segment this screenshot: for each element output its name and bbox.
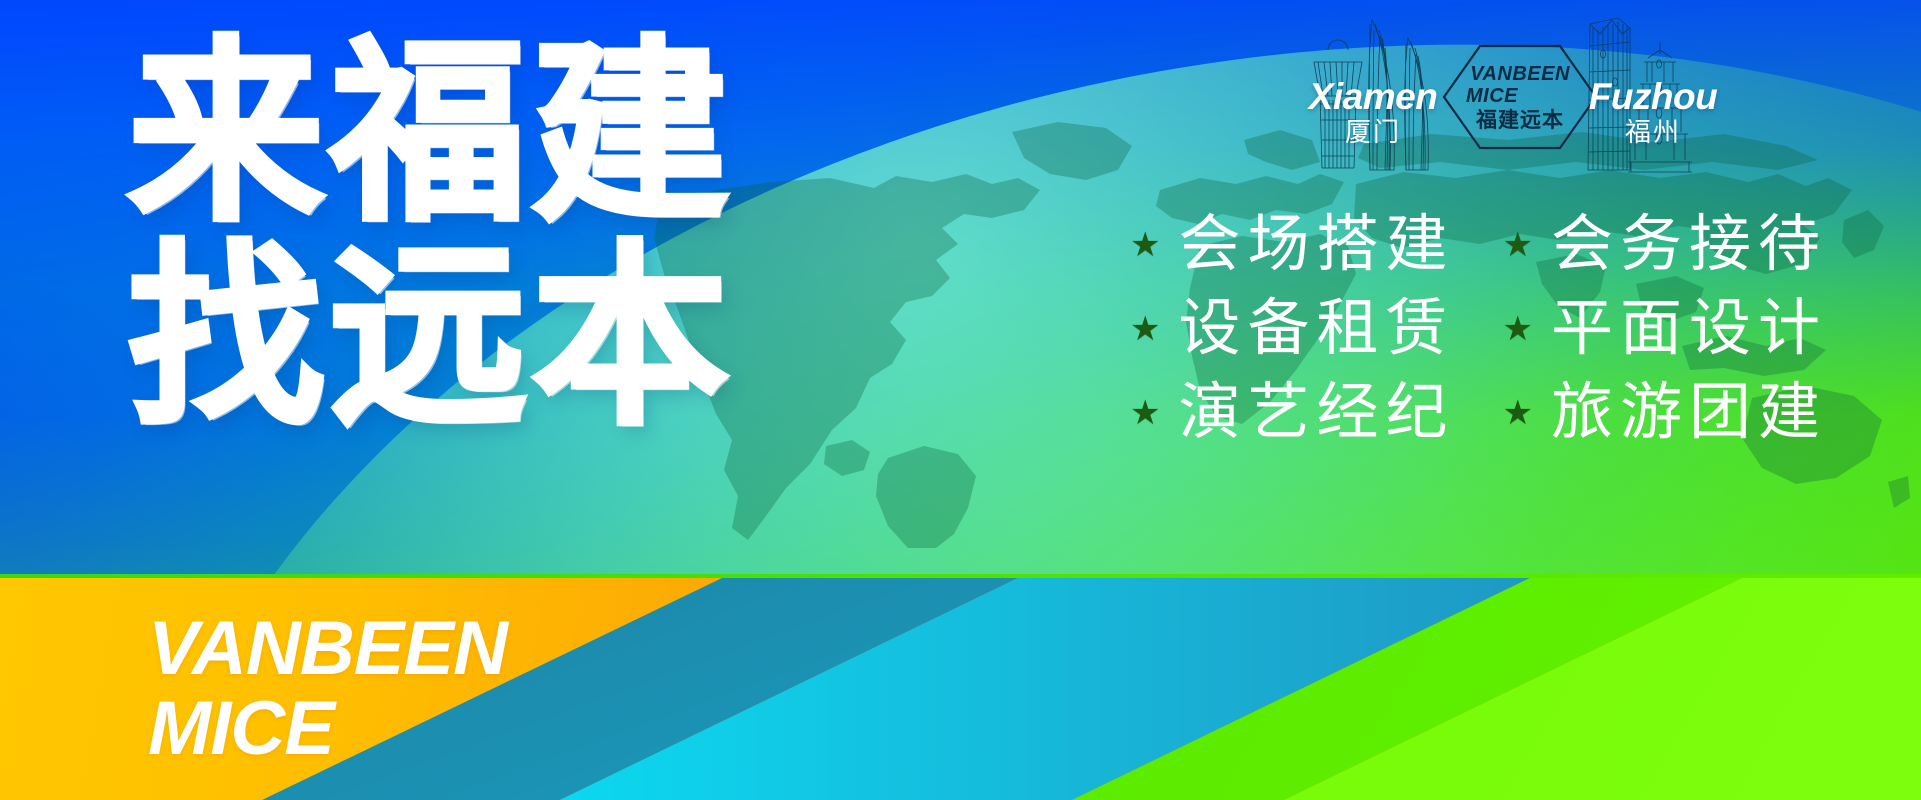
service-label: 会务接待: [1551, 208, 1827, 282]
footer-logo-line-2: MICE: [148, 692, 507, 766]
footer-bar: VANBEEN MICE: [0, 578, 1921, 800]
service-label: 设备租赁: [1178, 292, 1454, 366]
city-emblem: VANBEEN MICE 福建远本 Xiamen 厦门 Fuzhou 福州: [1300, 0, 1720, 175]
footer-logo-line-1: VANBEEN: [148, 612, 507, 686]
hex-line-3: 福建远本: [1476, 110, 1564, 131]
star-icon: ★: [1130, 312, 1160, 346]
city-name-en: Xiamen: [1278, 78, 1468, 115]
promo-banner: 来福建 找远本 ★ 会场搭建 ★ 会务接待 ★ 设备租赁 ★ 平面设计 ★ 演艺…: [0, 0, 1921, 800]
city-name-cn: 福州: [1568, 119, 1738, 145]
service-label: 平面设计: [1551, 292, 1827, 366]
city-name-cn: 厦门: [1278, 119, 1468, 145]
city-label-fuzhou: Fuzhou 福州: [1568, 78, 1738, 145]
star-icon: ★: [1130, 228, 1160, 262]
star-icon: ★: [1503, 396, 1533, 430]
star-icon: ★: [1130, 396, 1160, 430]
service-label: 演艺经纪: [1178, 376, 1454, 450]
service-item-2: ★ 设备租赁: [1130, 292, 1455, 366]
hex-line-2: MICE: [1466, 86, 1518, 106]
star-icon: ★: [1503, 312, 1533, 346]
service-label: 会场搭建: [1178, 208, 1454, 282]
footer-logo: VANBEEN MICE: [148, 612, 507, 766]
headline-line-2: 找远本: [128, 238, 734, 438]
star-icon: ★: [1503, 228, 1533, 262]
city-label-xiamen: Xiamen 厦门: [1278, 78, 1468, 145]
headline: 来福建 找远本: [128, 34, 734, 438]
city-name-en: Fuzhou: [1568, 78, 1738, 115]
headline-line-1: 来福建: [128, 34, 734, 234]
service-item-1: ★ 会务接待: [1503, 208, 1828, 282]
service-item-5: ★ 旅游团建: [1503, 376, 1828, 450]
service-item-3: ★ 平面设计: [1503, 292, 1828, 366]
hex-line-1: VANBEEN: [1470, 64, 1570, 84]
service-label: 旅游团建: [1551, 376, 1827, 450]
service-item-0: ★ 会场搭建: [1130, 208, 1455, 282]
service-item-4: ★ 演艺经纪: [1130, 376, 1455, 450]
service-list: ★ 会场搭建 ★ 会务接待 ★ 设备租赁 ★ 平面设计 ★ 演艺经纪 ★ 旅游团…: [1130, 208, 1827, 450]
